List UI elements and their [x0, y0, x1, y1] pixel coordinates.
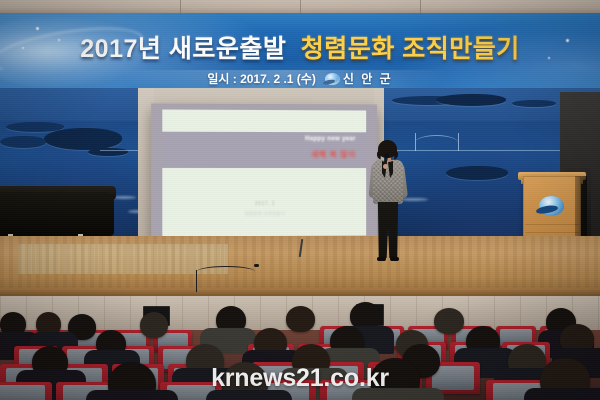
presenter	[368, 140, 408, 262]
podium-slat	[525, 232, 579, 233]
mural-island	[44, 128, 122, 150]
mural-island	[436, 94, 506, 106]
presenter-trousers	[377, 202, 399, 258]
slide-heading: Happy new year	[305, 136, 356, 142]
mural-bridge-pylon	[458, 133, 459, 151]
event-banner: 2017년 새로운출발 청렴문화 조직만들기 일시 : 2017. 2 .1 (…	[0, 13, 600, 88]
ceiling-seam	[420, 0, 421, 14]
audience-head	[140, 312, 168, 338]
presenter-shoe	[377, 257, 386, 261]
ceiling-seam	[180, 0, 181, 14]
grand-piano	[0, 192, 114, 236]
county-emblem-icon	[539, 196, 564, 216]
presenter-shoe	[390, 257, 399, 261]
mural-island	[446, 166, 508, 180]
banner-title: 2017년 새로운출발 청렴문화 조직만들기	[0, 29, 600, 65]
banner-title-white: 2017년 새로운출발	[80, 35, 286, 63]
presenter-jacket	[373, 160, 403, 204]
photograph-canvas: 2017년 새로운출발 청렴문화 조직만들기 일시 : 2017. 2 .1 (…	[0, 0, 600, 400]
slide-red-text: 새해 복 많이	[311, 149, 356, 160]
mural-sky	[0, 88, 152, 121]
ceiling-seam	[300, 0, 301, 14]
watermark: krnews21.co.kr	[0, 364, 600, 393]
floor-microphone-stand	[196, 270, 197, 292]
projection-screen: Happy new year 새해 복 많이 2017. 2 청렴문화 조직만들…	[151, 103, 377, 242]
mural-island	[512, 100, 556, 107]
projected-slide: Happy new year 새해 복 많이 2017. 2 청렴문화 조직만들…	[163, 109, 366, 237]
audience-head	[434, 308, 464, 334]
microphone-head-icon	[254, 264, 259, 267]
mural-bridge-cable	[415, 135, 458, 150]
podium-slat	[525, 224, 579, 225]
slide-footer-primary: 2017. 2	[163, 201, 366, 207]
presenter-hand	[383, 164, 388, 169]
mural-island	[0, 136, 46, 148]
banner-title-gold: 청렴문화 조직만들기	[301, 35, 520, 63]
banner-glow	[120, 70, 450, 88]
audience-head	[286, 306, 315, 332]
slide-band-top	[163, 109, 366, 133]
floor-microphone-boom	[197, 266, 255, 277]
slide-footer-secondary: 청렴문화 조직만들기	[163, 211, 366, 218]
